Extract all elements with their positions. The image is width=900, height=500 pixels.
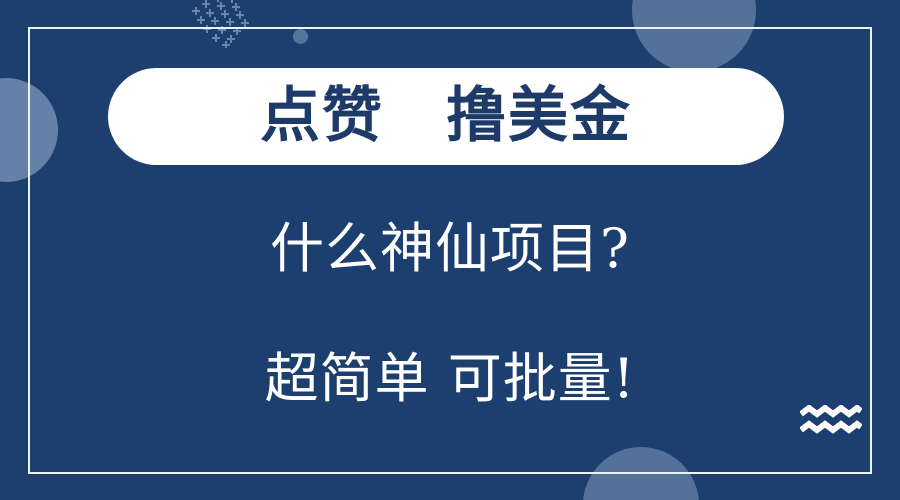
poster-content: 点赞 撸美金 什么神仙项目? 超简单 可批量!	[0, 0, 900, 500]
headline-text: 点赞 撸美金	[260, 86, 632, 146]
poster-canvas: 点赞 撸美金 什么神仙项目? 超简单 可批量!	[0, 0, 900, 500]
headline-pill: 点赞 撸美金	[108, 68, 784, 165]
subtitle-line-2: 超简单 可批量!	[0, 352, 900, 406]
subtitle-line-1: 什么神仙项目?	[0, 222, 900, 276]
